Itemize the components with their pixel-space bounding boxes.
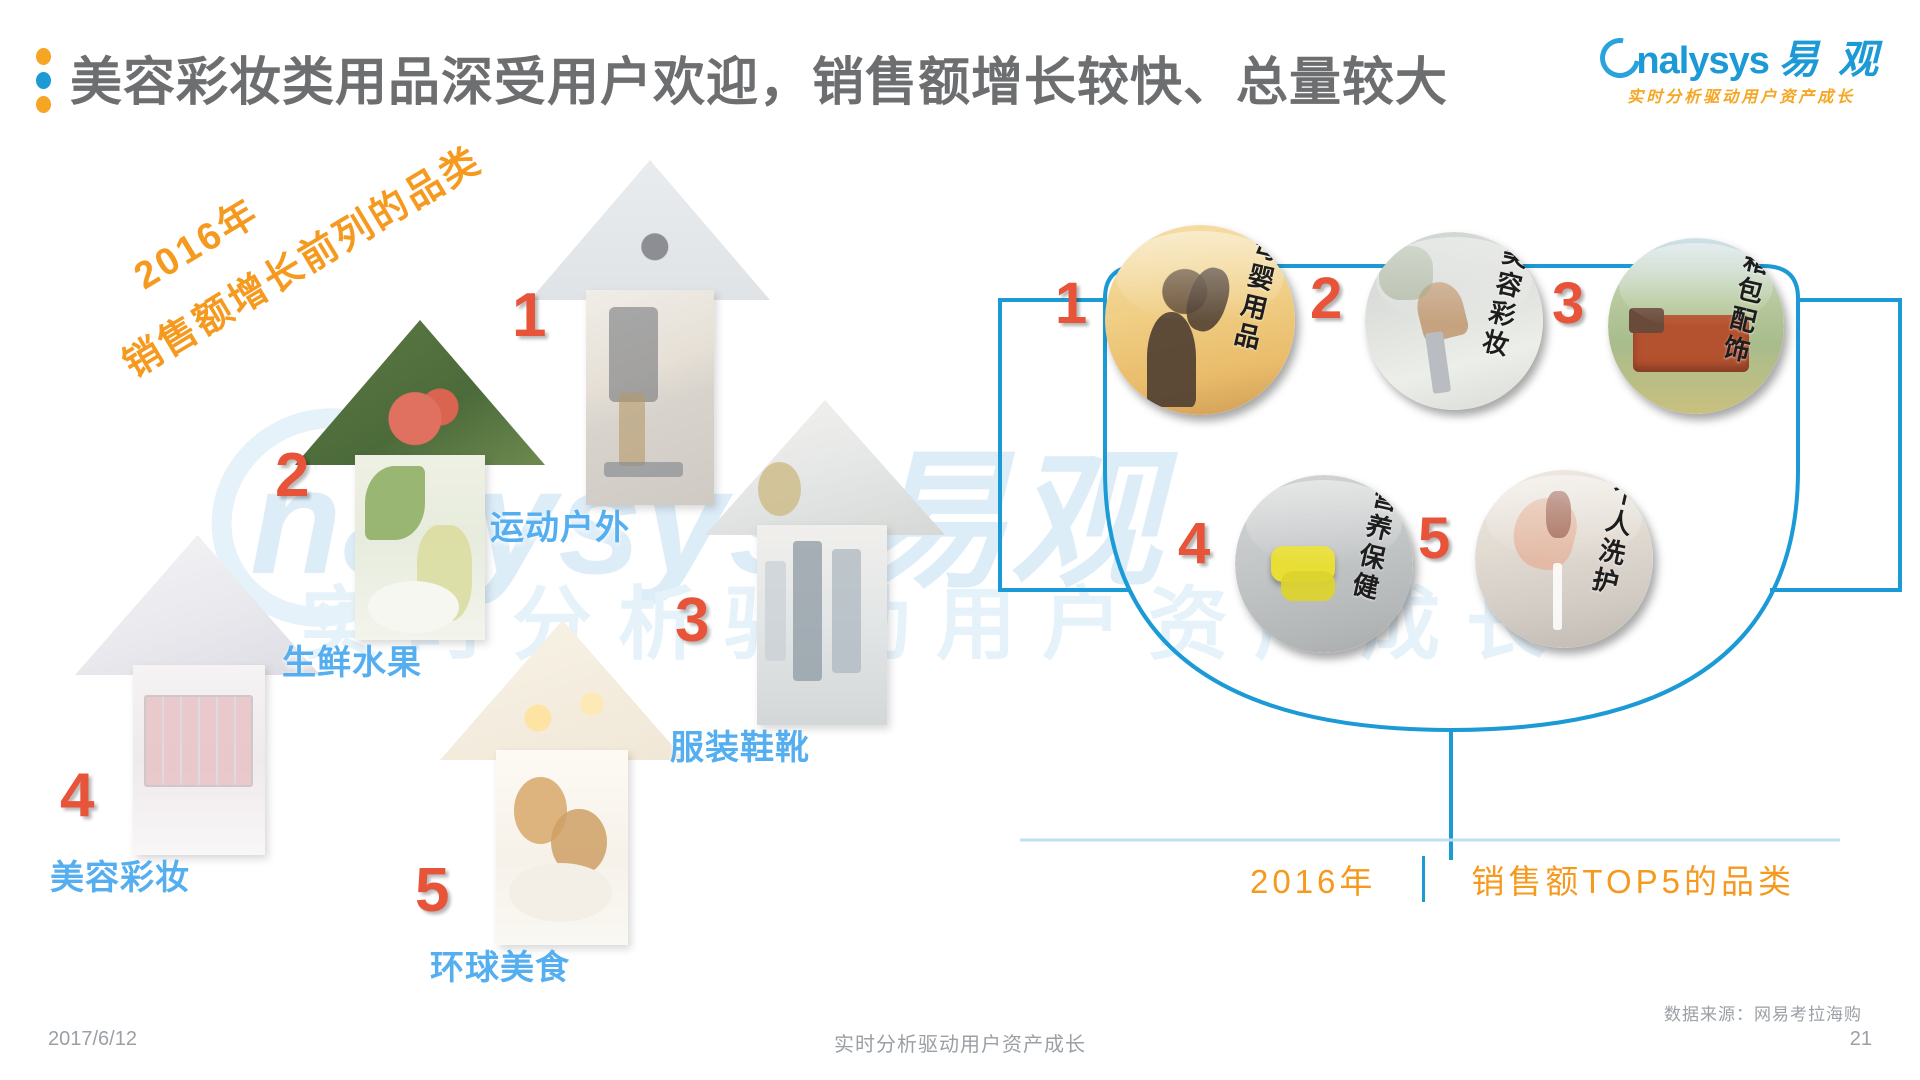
arrow-rank-3: 3 xyxy=(675,590,709,652)
top5-caption-text: 销售额TOP5的品类 xyxy=(1471,855,1795,903)
footer-slogan: 实时分析驱动用户资产成长 xyxy=(834,1028,1086,1057)
arrow-item-5[interactable]: 5 环球美食 xyxy=(440,620,685,960)
top5-rank-1: 1 xyxy=(1055,275,1087,333)
arrow-image-1 xyxy=(530,160,770,300)
top5-circle-3[interactable]: 箱包配饰 xyxy=(1608,238,1784,414)
analysys-logo: nalysys易 观 实时分析驱动用户资产成长 xyxy=(1600,38,1882,107)
logo-name: nalysys xyxy=(1636,40,1768,82)
logo-tagline: 实时分析驱动用户资产成长 xyxy=(1600,83,1882,107)
top5-caption-divider xyxy=(1422,856,1425,902)
arrow-label-4: 美容彩妆 xyxy=(50,850,190,899)
top5-circle-4[interactable]: 营养保健 xyxy=(1235,475,1413,653)
arrow-rank-5: 5 xyxy=(415,860,449,922)
top5-rank-3: 3 xyxy=(1552,275,1584,333)
footer-page-number: 21 xyxy=(1850,1028,1872,1051)
arrow-image-3 xyxy=(705,400,945,535)
arrow-item-2[interactable]: 2 生鲜水果 xyxy=(295,320,545,660)
logo-name-cn: 易 观 xyxy=(1779,38,1882,82)
top5-rank-2: 2 xyxy=(1310,270,1342,328)
arrow-label-1: 运动户外 xyxy=(490,500,630,549)
arrow-item-3[interactable]: 3 服装鞋靴 xyxy=(705,400,945,740)
top5-circle-2[interactable]: 美容彩妆 xyxy=(1365,232,1543,410)
slide-root: nalysys 易观 实时分析驱动用户资产成长 美容彩妆类用品深受用户欢迎，销售… xyxy=(0,0,1920,1080)
arrow-item-4[interactable]: 4 美容彩妆 xyxy=(75,535,320,865)
arrow-rank-4: 4 xyxy=(60,765,94,827)
source-note: 数据来源：网易考拉海购 xyxy=(1664,1000,1862,1025)
top5-bowl-diagram: 母婴用品 1 美容彩妆 2 箱包配饰 3 营养保健 xyxy=(980,170,1920,870)
slide-footer: 2017/6/12 实时分析驱动用户资产成长 21 xyxy=(0,1028,1920,1058)
logo-wordmark: nalysys易 观 xyxy=(1600,38,1882,80)
bowl-base-line xyxy=(980,820,1920,860)
top5-caption-year: 2016年 xyxy=(1250,855,1376,903)
top5-caption: 2016年 销售额TOP5的品类 xyxy=(1250,855,1795,903)
top5-rank-4: 4 xyxy=(1178,515,1210,573)
arrow-rank-1: 1 xyxy=(512,285,546,347)
arrow-label-5: 环球美食 xyxy=(430,940,570,989)
arrow-label-2: 生鲜水果 xyxy=(282,635,422,684)
arrow-rank-2: 2 xyxy=(275,445,309,507)
arrow-image-5 xyxy=(440,620,685,760)
footer-date: 2017/6/12 xyxy=(48,1028,137,1051)
arrow-image-2 xyxy=(295,320,545,465)
page-title: 美容彩妆类用品深受用户欢迎，销售额增长较快、总量较大 xyxy=(70,40,1448,115)
slide-header: 美容彩妆类用品深受用户欢迎，销售额增长较快、总量较大 nalysys易 观 实时… xyxy=(0,0,1920,150)
top5-circle-5[interactable]: 个人洗护 xyxy=(1475,470,1653,648)
arrow-label-3: 服装鞋靴 xyxy=(670,720,810,769)
top5-rank-5: 5 xyxy=(1418,510,1450,568)
title-dots-icon xyxy=(36,48,54,126)
top5-circle-1[interactable]: 母婴用品 xyxy=(1105,225,1295,415)
